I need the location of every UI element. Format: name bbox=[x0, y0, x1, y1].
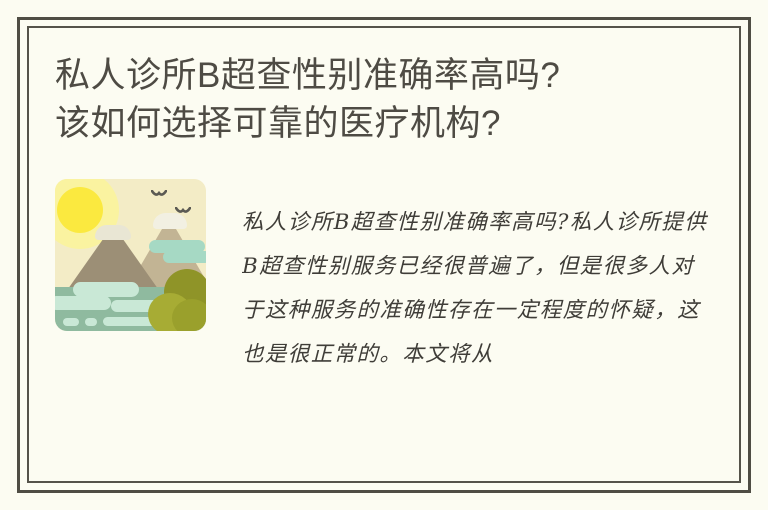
article-body: 私人诊所B超查性别准确率高吗?私人诊所提供B超查性别服务已经很普遍了，但是很多人… bbox=[55, 179, 715, 398]
bird-icon bbox=[151, 190, 167, 199]
bush-icon bbox=[172, 299, 206, 331]
wave-icon bbox=[85, 318, 97, 326]
article-excerpt: 私人诊所B超查性别准确率高吗?私人诊所提供B超查性别服务已经很普遍了，但是很多人… bbox=[242, 201, 715, 377]
wave-icon bbox=[73, 282, 139, 297]
landscape-illustration-icon bbox=[55, 179, 206, 331]
article-content: 私人诊所B超查性别准确率高吗? 该如何选择可靠的医疗机构? bbox=[55, 52, 715, 452]
cloud-icon bbox=[163, 251, 206, 263]
article-thumbnail[interactable] bbox=[55, 179, 206, 331]
article-card: 私人诊所B超查性别准确率高吗? 该如何选择可靠的医疗机构? bbox=[0, 0, 768, 510]
wave-icon bbox=[55, 296, 111, 310]
wave-icon bbox=[63, 318, 79, 326]
mountain-front-snowcap-icon bbox=[95, 225, 131, 240]
bird-icon bbox=[175, 207, 191, 216]
article-title: 私人诊所B超查性别准确率高吗? 该如何选择可靠的医疗机构? bbox=[55, 52, 715, 148]
